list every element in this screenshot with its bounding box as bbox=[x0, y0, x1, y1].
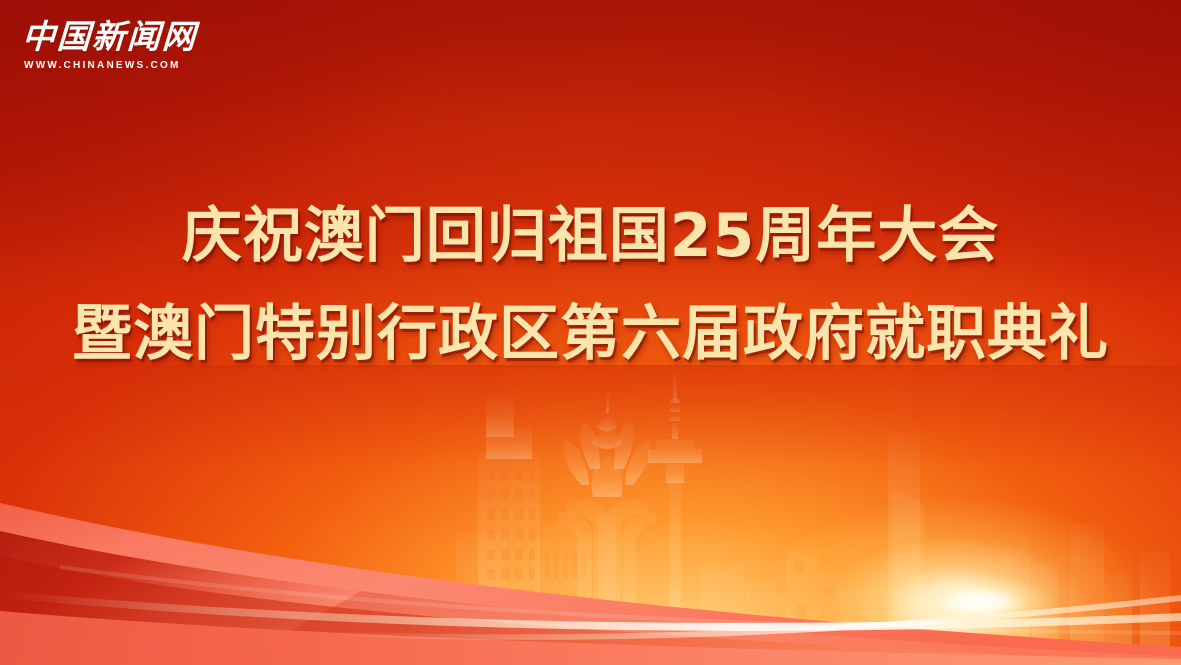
chinanews-logo[interactable]: 中国新闻网 WWW.CHINANEWS.COM bbox=[22, 20, 182, 71]
chinanews-logo-url: WWW.CHINANEWS.COM bbox=[24, 60, 182, 71]
headline-line-2: 暨澳门特别行政区第六届政府就职典礼 bbox=[0, 304, 1181, 364]
ribbon-waves-illustration bbox=[0, 435, 1181, 665]
chinanews-logo-icon: 中国新闻网 bbox=[21, 20, 183, 55]
headline-line-1: 庆祝澳门回归祖国25周年大会 bbox=[0, 206, 1181, 266]
poster-canvas: 中国新闻网 WWW.CHINANEWS.COM 庆祝澳门回归祖国25周年大会 暨… bbox=[0, 0, 1181, 665]
poster-headline: 庆祝澳门回归祖国25周年大会 暨澳门特别行政区第六届政府就职典礼 bbox=[0, 206, 1181, 364]
